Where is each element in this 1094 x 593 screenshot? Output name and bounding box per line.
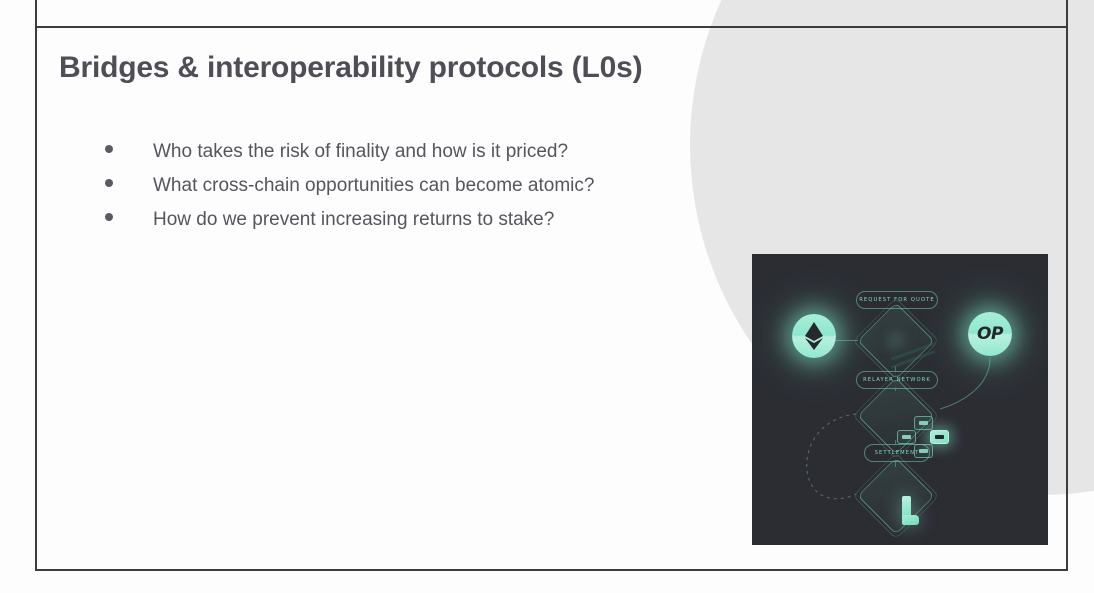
diamond-outline (857, 302, 934, 379)
ethereum-glyph (805, 322, 823, 350)
list-item: What cross-chain opportunities can becom… (105, 175, 594, 209)
settlement-node (852, 467, 940, 525)
optimism-label: OP (977, 324, 1003, 344)
relayer-node-dot (914, 444, 933, 458)
relayer-node (852, 387, 940, 445)
relayer-node-dot (914, 416, 933, 430)
ethereum-icon (792, 314, 836, 358)
bullet-text: What cross-chain opportunities can becom… (153, 175, 594, 197)
bullet-dot-icon (105, 179, 113, 187)
diagram-canvas: OP REQUEST FOR QUOTE RELAYER NETWORK SET… (752, 254, 1048, 545)
relayer-node-dot (897, 430, 916, 444)
slide-stage: Bridges & interoperability protocols (L0… (0, 0, 1094, 593)
bullet-text: Who takes the risk of finality and how i… (153, 141, 568, 163)
bullet-text: How do we prevent increasing returns to … (153, 209, 554, 231)
page-title: Bridges & interoperability protocols (L0… (59, 51, 642, 85)
relayer-node-dot-active (930, 430, 949, 444)
optimism-icon: OP (968, 312, 1012, 356)
quote-node (852, 312, 940, 370)
bridge-flow-diagram-image: OP REQUEST FOR QUOTE RELAYER NETWORK SET… (752, 254, 1048, 545)
diamond-outline (857, 457, 934, 534)
slide-frame: Bridges & interoperability protocols (L0… (35, 26, 1068, 571)
list-item: How do we prevent increasing returns to … (105, 209, 594, 243)
bullet-list: Who takes the risk of finality and how i… (105, 141, 594, 243)
bullet-dot-icon (105, 213, 113, 221)
bullet-dot-icon (105, 145, 113, 153)
list-item: Who takes the risk of finality and how i… (105, 141, 594, 175)
